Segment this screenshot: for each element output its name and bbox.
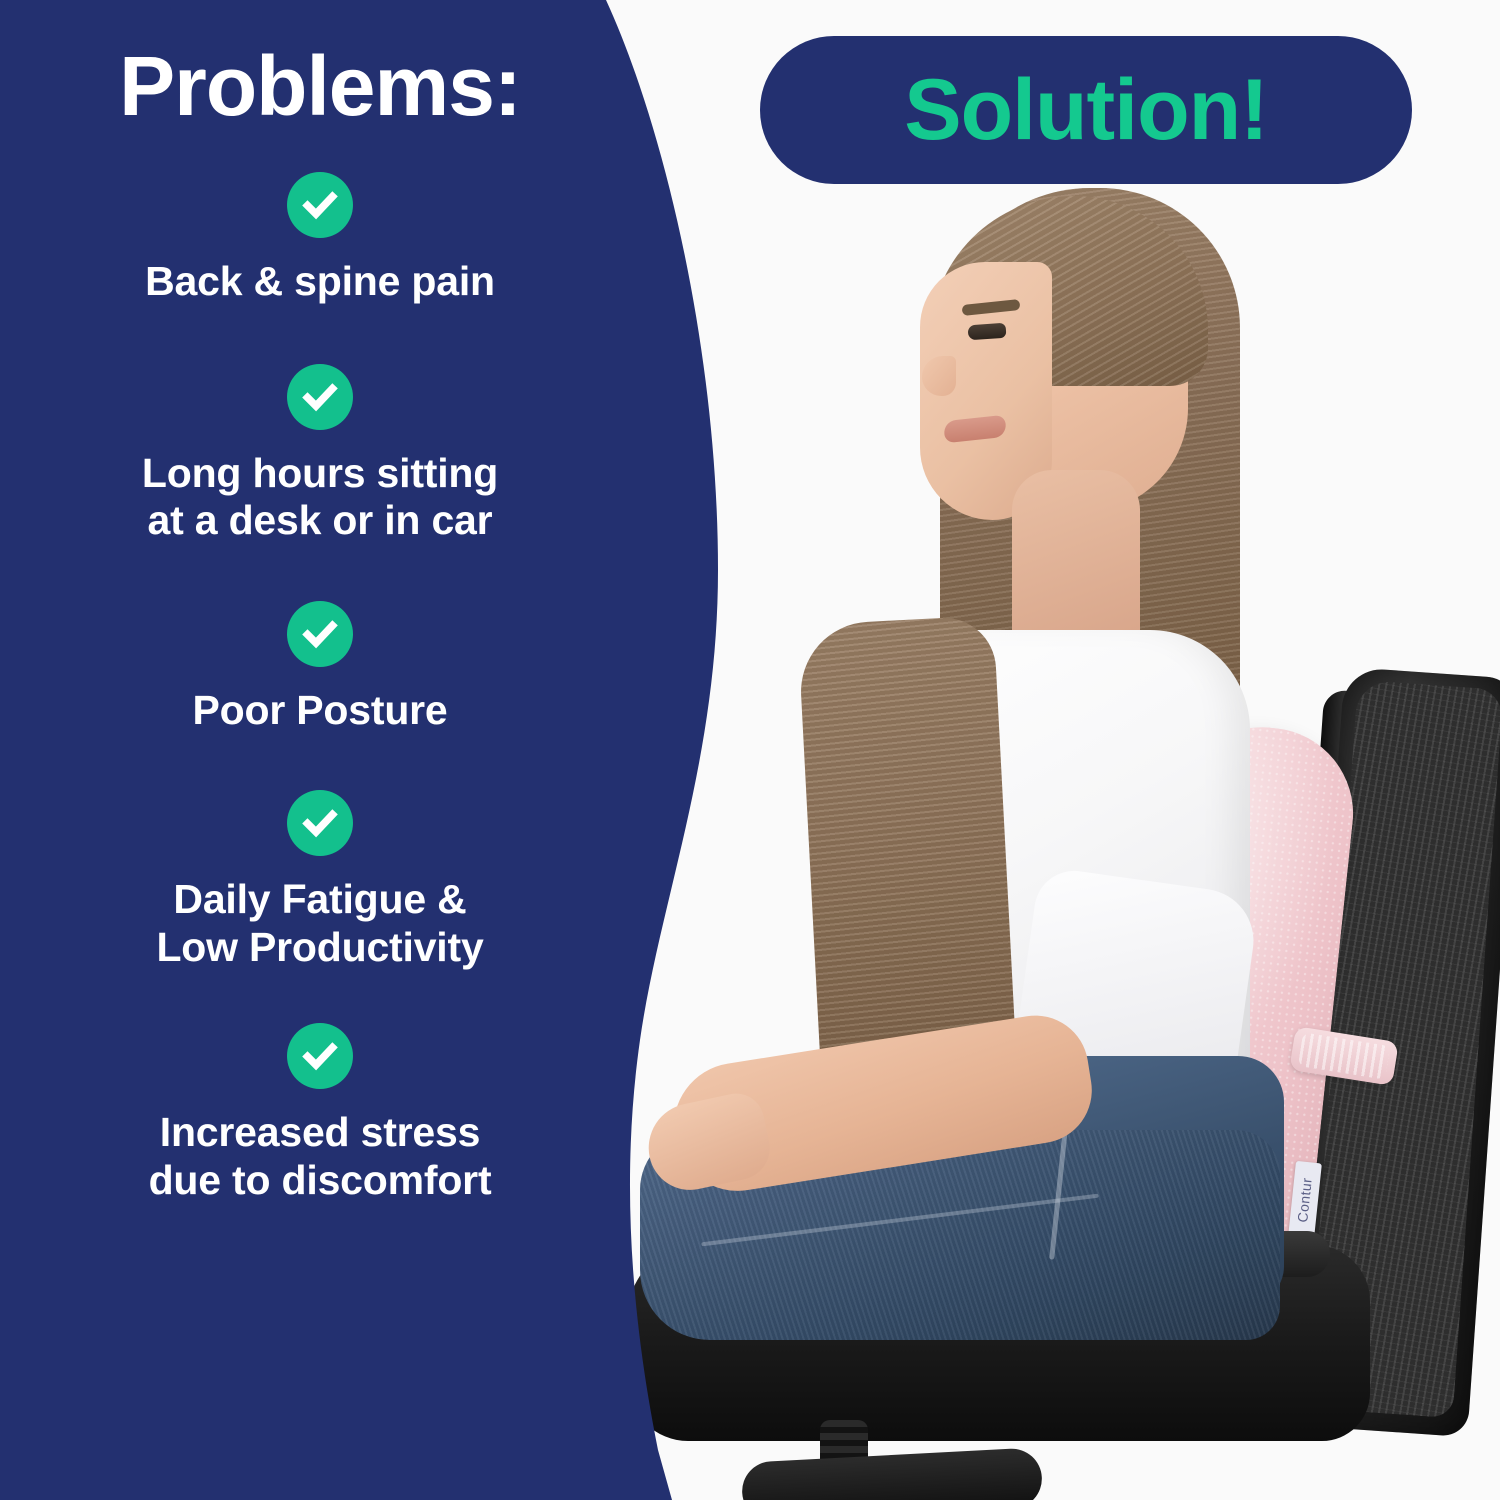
list-item: Poor Posture bbox=[0, 601, 640, 735]
chair-base bbox=[741, 1447, 1044, 1500]
list-item: Long hours sitting at a desk or in car bbox=[0, 364, 640, 545]
eye bbox=[968, 323, 1007, 341]
page-title: Problems: bbox=[119, 44, 521, 128]
list-item-label: Daily Fatigue & Low Productivity bbox=[156, 876, 483, 971]
brand-tag-label: Contur bbox=[1295, 1177, 1316, 1223]
infographic-canvas: Contur Problems: bbox=[0, 0, 1500, 1500]
check-icon bbox=[287, 1023, 353, 1089]
solution-badge: Solution! bbox=[760, 36, 1412, 184]
list-item-label: Poor Posture bbox=[192, 687, 447, 735]
list-item: Back & spine pain bbox=[0, 172, 640, 306]
check-icon bbox=[287, 364, 353, 430]
list-item: Daily Fatigue & Low Productivity bbox=[0, 790, 640, 971]
list-item: Increased stress due to discomfort bbox=[0, 1023, 640, 1204]
problems-panel-content: Problems: Back & spine pain Long hours s… bbox=[0, 0, 640, 1500]
list-item-label: Back & spine pain bbox=[145, 258, 495, 306]
check-icon bbox=[287, 172, 353, 238]
check-icon bbox=[287, 790, 353, 856]
check-icon bbox=[287, 601, 353, 667]
list-item-label: Increased stress due to discomfort bbox=[149, 1109, 492, 1204]
solution-label: Solution! bbox=[904, 67, 1268, 153]
problems-list: Back & spine pain Long hours sitting at … bbox=[0, 128, 640, 1204]
nose bbox=[922, 356, 956, 396]
list-item-label: Long hours sitting at a desk or in car bbox=[142, 450, 498, 545]
